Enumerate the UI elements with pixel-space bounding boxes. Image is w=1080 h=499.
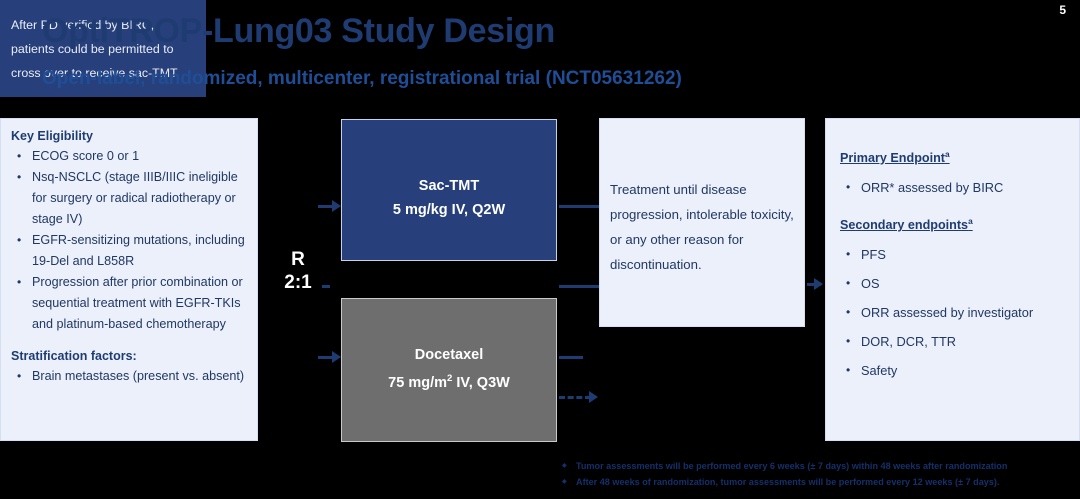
arm-sac-tmt-box: Sac-TMT 5 mg/kg IV, Q2W <box>341 119 557 261</box>
arm-sac-tmt-text: Sac-TMT 5 mg/kg IV, Q2W <box>342 174 556 222</box>
secondary-endpoints-heading-text: Secondary endpoints <box>840 218 968 232</box>
randomization-ratio: 2:1 <box>272 271 324 294</box>
list-item: PFS <box>840 240 1071 269</box>
connector-arm-b-to-treatment <box>559 285 601 288</box>
connector-arm-a-to-treatment <box>559 205 601 208</box>
primary-endpoint-list: ORR* assessed by BIRC <box>840 173 1071 202</box>
stratification-heading: Stratification factors: <box>11 349 249 363</box>
page-subtitle: Open-label, randomized, multicenter, reg… <box>42 68 682 90</box>
list-item: OS <box>840 269 1071 298</box>
secondary-endpoints-heading-sup: a <box>968 216 973 226</box>
list-item: DOR, DCR, TTR <box>840 327 1071 356</box>
footnote-item: Tumor assessments will be performed ever… <box>560 458 1080 474</box>
list-item: ECOG score 0 or 1 <box>11 146 249 167</box>
arm-docetaxel-text: Docetaxel 75 mg/m2 IV, Q3W <box>342 343 556 395</box>
connector-r-stub <box>322 285 330 288</box>
slide-canvas: OptiTROP-Lung03 Study Design Open-label,… <box>0 0 1080 499</box>
arm-dose: 5 mg/kg IV, Q2W <box>342 198 556 222</box>
treatment-duration-text: Treatment until disease progression, int… <box>610 177 794 277</box>
list-item: ORR* assessed by BIRC <box>840 173 1071 202</box>
arrowhead-crossover <box>589 391 598 403</box>
eligibility-heading: Key Eligibility <box>11 129 249 143</box>
endpoints-panel: Primary Endpointa ORR* assessed by BIRC … <box>825 118 1080 441</box>
list-item: Nsq-NSCLC (stage IIIB/IIIC ineligible fo… <box>11 167 249 230</box>
arrowhead-endpoints <box>814 278 823 290</box>
arm-dose-suffix: IV, Q3W <box>452 375 509 391</box>
arm-dose-prefix: 75 mg/m <box>388 375 447 391</box>
arm-dose: 75 mg/m2 IV, Q3W <box>342 367 556 395</box>
arrowhead-arm-b <box>332 351 341 363</box>
primary-endpoint-heading-sup: a <box>945 149 950 159</box>
stratification-list: Brain metastases (present vs. absent) <box>11 366 249 387</box>
arm-docetaxel-box: Docetaxel 75 mg/m2 IV, Q3W <box>341 298 557 442</box>
list-item: Progression after prior combination or s… <box>11 272 249 335</box>
arm-name: Docetaxel <box>342 343 556 367</box>
list-item: ORR assessed by investigator <box>840 298 1071 327</box>
randomization-label: R 2:1 <box>272 248 324 294</box>
connector-arm-b-stub <box>559 356 583 359</box>
primary-endpoint-heading-text: Primary Endpoint <box>840 151 945 165</box>
arrowhead-arm-a <box>332 200 341 212</box>
secondary-endpoints-list: PFS OS ORR assessed by investigator DOR,… <box>840 240 1071 385</box>
arm-name: Sac-TMT <box>342 174 556 198</box>
page-title: OptiTROP-Lung03 Study Design <box>42 12 555 51</box>
eligibility-list: ECOG score 0 or 1 Nsq-NSCLC (stage IIIB/… <box>11 146 249 335</box>
randomization-r: R <box>272 248 324 271</box>
connector-crossover-dashed <box>559 396 591 399</box>
connector-vert-stub <box>559 285 562 286</box>
footnote-item: After 48 weeks of randomization, tumor a… <box>560 474 1080 490</box>
secondary-endpoints-heading: Secondary endpointsa <box>840 216 1071 232</box>
list-item: Safety <box>840 356 1071 385</box>
treatment-duration-box: Treatment until disease progression, int… <box>599 118 805 327</box>
primary-endpoint-heading: Primary Endpointa <box>840 149 1071 165</box>
list-item: Brain metastases (present vs. absent) <box>11 366 249 387</box>
key-eligibility-panel: Key Eligibility ECOG score 0 or 1 Nsq-NS… <box>0 118 258 441</box>
list-item: EGFR-sensitizing mutations, including 19… <box>11 230 249 272</box>
footnotes: Tumor assessments will be performed ever… <box>560 458 1080 490</box>
slide-number: 5 <box>1059 3 1066 17</box>
